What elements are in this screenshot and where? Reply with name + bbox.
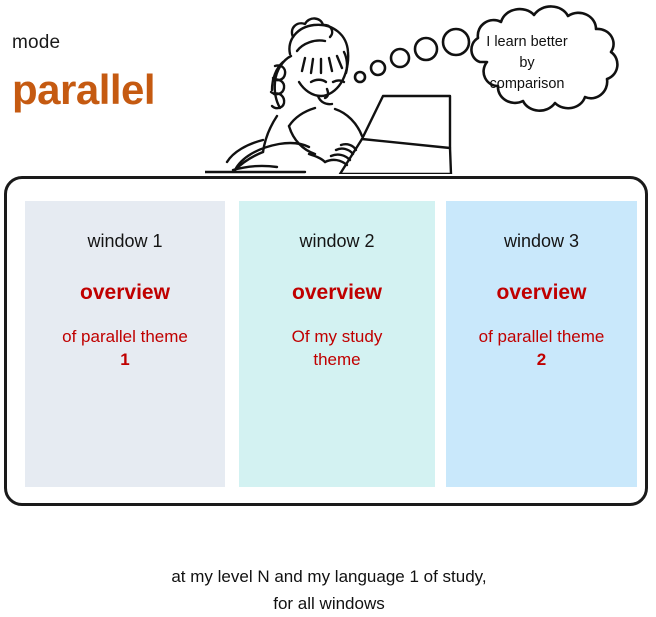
window-1-subtitle: of parallel theme 1 — [25, 325, 225, 371]
thought-bubble-text: I learn better by comparison — [452, 32, 602, 95]
window-1-subtitle-text: of parallel theme — [62, 327, 188, 346]
window-2-heading: overview — [239, 281, 435, 305]
window-3-subtitle: of parallel theme 2 — [446, 325, 637, 371]
window-column-2[interactable]: window 2 overview Of my study theme — [239, 201, 435, 487]
window-3-heading: overview — [446, 281, 637, 305]
window-3-number: 2 — [446, 348, 637, 371]
window-2-number: theme — [239, 348, 435, 371]
window-3-title: window 3 — [446, 231, 637, 252]
window-2-title: window 2 — [239, 231, 435, 252]
thought-bubble-line-1: I learn better — [452, 32, 602, 53]
window-3-subtitle-text: of parallel theme — [479, 327, 605, 346]
window-column-1[interactable]: window 1 overview of parallel theme 1 — [25, 201, 225, 487]
window-2-subtitle: Of my study theme — [239, 325, 435, 371]
windows-panel: window 1 overview of parallel theme 1 wi… — [4, 176, 648, 506]
window-2-subtitle-text: Of my study — [292, 327, 383, 346]
mode-label: mode — [12, 32, 60, 54]
thought-bubble-line-2: by — [452, 53, 602, 74]
panel-caption: at my level N and my language 1 of study… — [7, 563, 651, 617]
windows-row: window 1 overview of parallel theme 1 wi… — [7, 179, 651, 509]
thought-bubble-line-3: comparison — [452, 74, 602, 95]
window-1-title: window 1 — [25, 231, 225, 252]
mode-value: parallel — [12, 66, 155, 114]
window-column-3[interactable]: window 3 overview of parallel theme 2 — [446, 201, 637, 487]
header: mode parallel — [0, 0, 656, 172]
window-1-heading: overview — [25, 281, 225, 305]
window-1-number: 1 — [25, 348, 225, 371]
panel-caption-line-2: for all windows — [7, 590, 651, 617]
panel-caption-line-1: at my level N and my language 1 of study… — [7, 563, 651, 590]
